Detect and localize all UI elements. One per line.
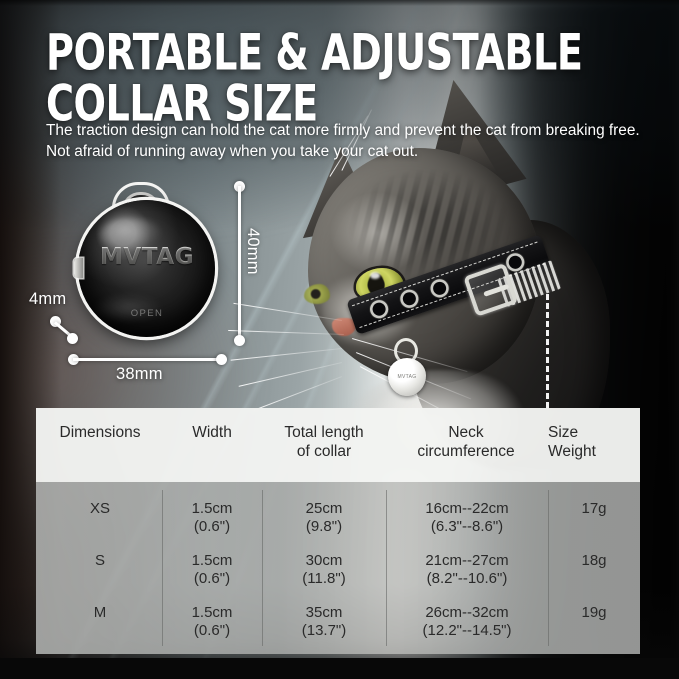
table-row: 18g [548,552,640,570]
table-row: 25cm (9.8") [262,500,386,536]
top-edge-shadow [0,0,679,6]
dim-height-line [238,186,241,340]
dim-thickness-label: 4mm [29,290,66,309]
cell-width-cm: 1.5cm [162,604,262,622]
table-header-total-length: Total length of collar [262,424,386,461]
cat-eye-far [304,284,330,304]
bottom-edge-bar [0,658,679,679]
cell-width-cm: 1.5cm [162,552,262,570]
collar-grommet [431,280,448,297]
device-brand-label: MVTAG [72,244,222,270]
table-row: XS [40,500,160,518]
table-row: M [40,604,160,622]
cell-neck-in: (8.2"--10.6") [386,570,548,588]
table-header-neck-circumference: Neck circumference [386,424,546,461]
table-header-line1: Neck [386,424,546,443]
cat-collar: MVTAG [352,278,562,398]
cell-neck-cm: 16cm--22cm [386,500,548,518]
table-row: 1.5cm (0.6") [162,552,262,588]
cell-length-cm: 30cm [262,552,386,570]
cell-weight: 19g [581,604,606,621]
table-header-line1: Total length [262,424,386,443]
table-row: 17g [548,500,640,518]
table-row: S [40,552,160,570]
cell-size: M [94,604,107,621]
size-spec-table: Dimensions Width Total length of collar … [36,408,640,654]
table-row: 16cm--22cm (6.3"--8.6") [386,500,548,536]
table-header-line2: circumference [386,443,546,462]
cell-length-cm: 35cm [262,604,386,622]
dim-width-label: 38mm [116,365,163,384]
table-row: 19g [548,604,640,622]
table-header-line1: Size [548,424,640,443]
table-header-width: Width [162,424,262,443]
table-header-line1: Dimensions [40,424,160,443]
cell-neck-cm: 26cm--32cm [386,604,548,622]
dim-height-label: 40mm [243,228,262,275]
cell-size: XS [90,500,110,517]
table-row: 30cm (11.8") [262,552,386,588]
cell-size: S [95,552,105,569]
table-header-dimensions: Dimensions [40,424,160,443]
dim-width-line [73,358,221,361]
cell-neck-in: (12.2"--14.5") [386,622,548,640]
table-header-size-weight: Size Weight [548,424,640,461]
headline: PORTABLE & ADJUSTABLE COLLAR SIZE [46,30,646,132]
table-row: 1.5cm (0.6") [162,500,262,536]
dim-height-dot-bottom [234,335,245,346]
dim-width-dot-right [216,354,227,365]
cell-width-in: (0.6") [162,518,262,536]
dashed-guide-line [546,294,549,408]
table-row: 21cm--27cm (8.2"--10.6") [386,552,548,588]
cell-width-in: (0.6") [162,622,262,640]
dim-thickness-dot-bottom [67,333,78,344]
mvtag-device: MVTAG OPEN [72,182,224,342]
collar-grommet [401,291,418,308]
cell-neck-in: (6.3"--8.6") [386,518,548,536]
table-row: 26cm--32cm (12.2"--14.5") [386,604,548,640]
table-header-line2: Weight [548,443,640,462]
cell-weight: 18g [581,552,606,569]
device-open-label: OPEN [72,308,222,319]
product-marketing-image: MVTAG PORTABLE & ADJUSTABLE COLLAR SIZE … [0,0,679,679]
cell-length-in: (11.8") [262,570,386,588]
cell-width-in: (0.6") [162,570,262,588]
table-row: 35cm (13.7") [262,604,386,640]
cell-width-cm: 1.5cm [162,500,262,518]
table-header-line1: Width [162,424,262,443]
hanging-tag-label: MVTAG [388,374,426,380]
cell-weight: 17g [581,500,606,517]
subheadline-text: The traction design can hold the cat mor… [46,121,646,163]
cell-neck-cm: 21cm--27cm [386,552,548,570]
cell-length-in: (9.8") [262,518,386,536]
collar-grommet [507,254,524,271]
headline-line-1: PORTABLE & ADJUSTABLE [46,30,634,79]
cell-length-in: (13.7") [262,622,386,640]
table-row: 1.5cm (0.6") [162,604,262,640]
cell-length-cm: 25cm [262,500,386,518]
collar-grommet [371,301,388,318]
table-header-line2: of collar [262,443,386,462]
